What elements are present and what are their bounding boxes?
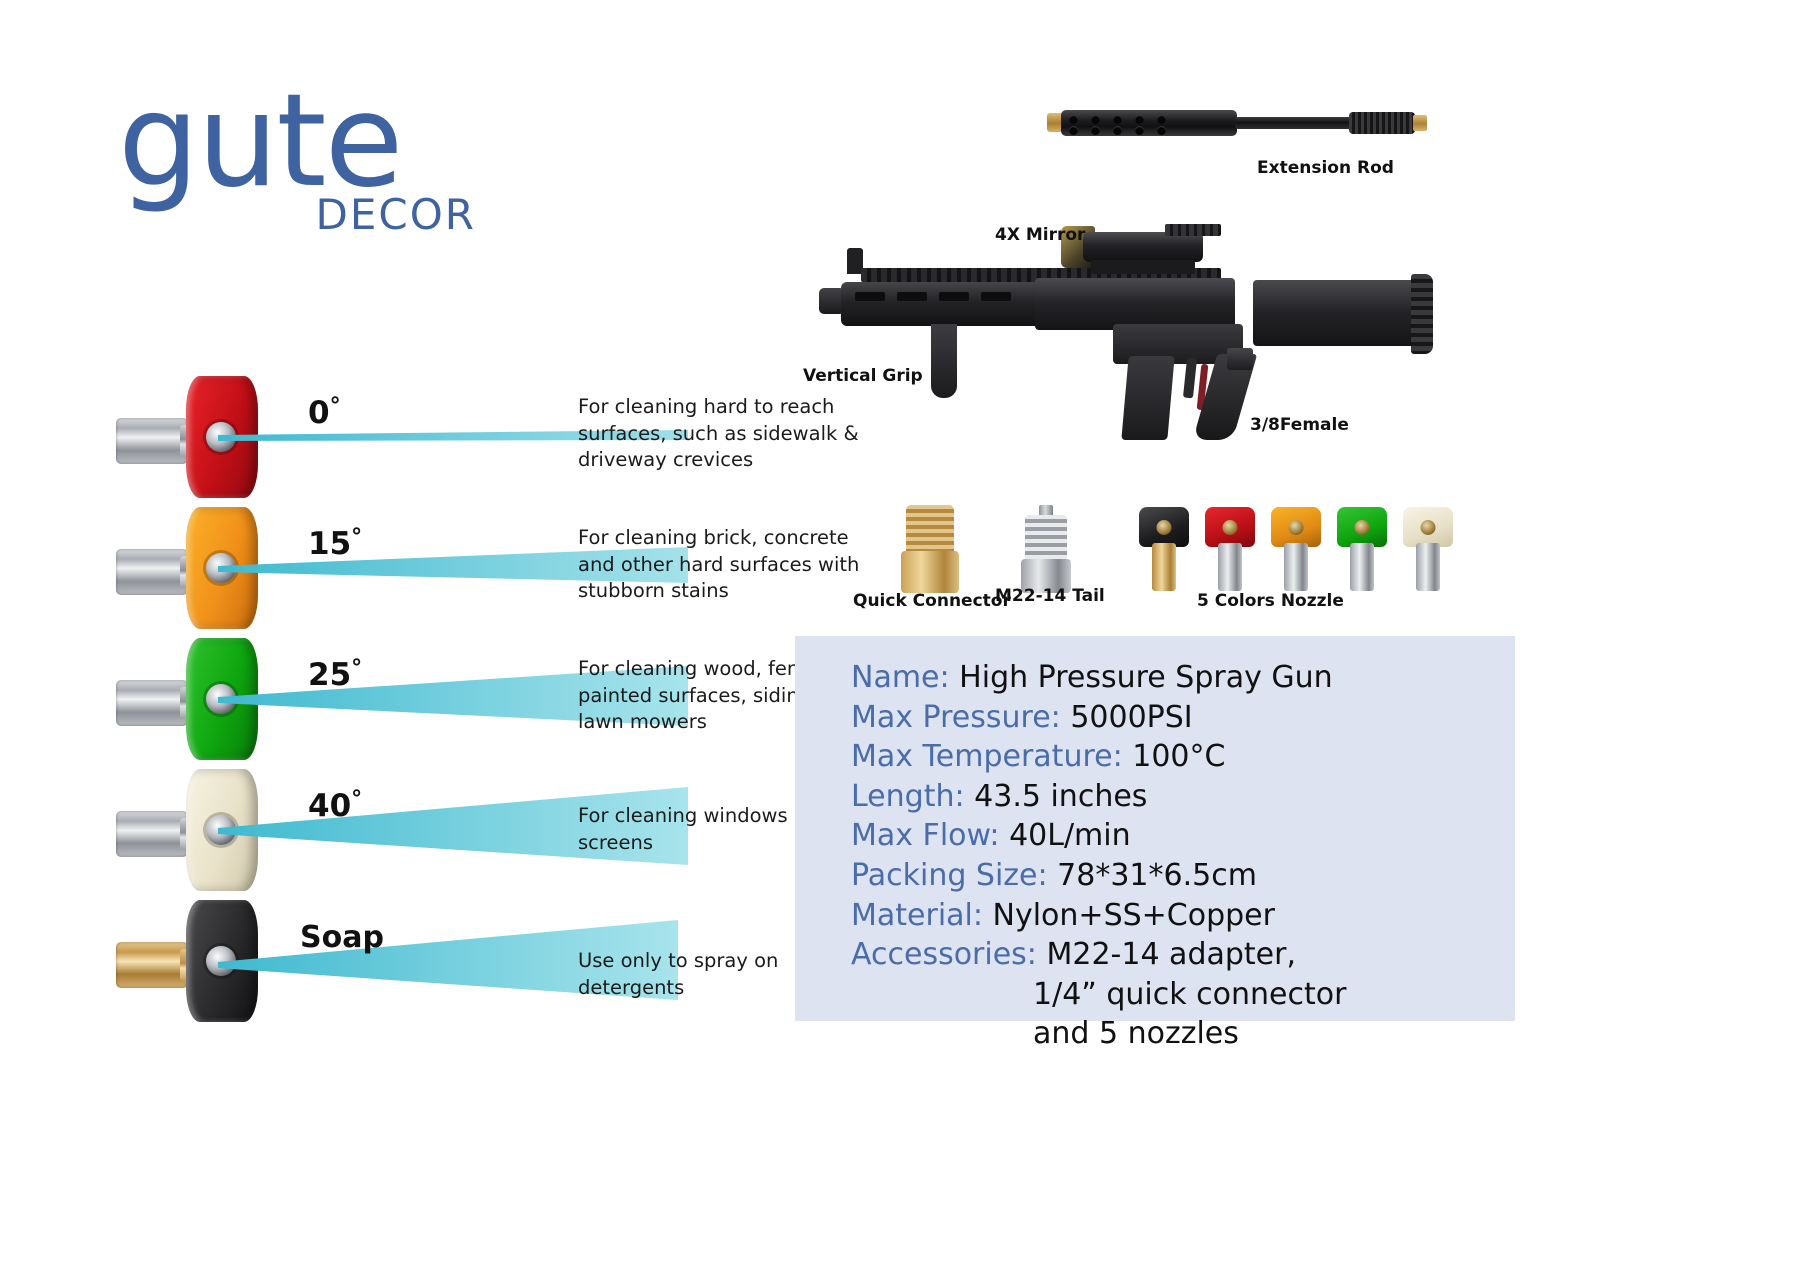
mini-nozzle-stem (1284, 543, 1308, 591)
nozzle-disc-red (186, 376, 258, 498)
label-vertical-grip: Vertical Grip (803, 366, 923, 386)
spec-row-packing-size: Packing Size: 78*31*6.5cm (851, 856, 1505, 896)
nozzle-image-soap (108, 896, 268, 1027)
spec-row-max-temperature: Max Temperature: 100°C (851, 737, 1505, 777)
mini-nozzle-orange (1271, 507, 1321, 593)
label-5-colors-nozzle: 5 Colors Nozzle (1197, 591, 1344, 611)
rod-vent-holes (1069, 115, 1189, 131)
nozzle-row: 25° For cleaning wood, fences, painted s… (100, 634, 790, 765)
nozzle-angle-label: 25° (308, 656, 362, 693)
spec-value: M22-14 adapter, (1046, 937, 1296, 972)
nozzle-image-orange (108, 503, 268, 634)
qc-hex (901, 551, 959, 593)
spec-value: 40L/min (1009, 818, 1131, 853)
nozzle-image-green (108, 634, 268, 765)
quick-connector-icon (116, 811, 188, 857)
nozzle-angle-label: 15° (308, 525, 362, 562)
scope-mount (1091, 260, 1195, 274)
mini-nozzle-stem (1350, 543, 1374, 591)
spec-row-accessories: Accessories: M22-14 adapter, (851, 935, 1505, 975)
label-quick-connector: Quick Connector (853, 591, 1011, 611)
nozzle-row: Soap Use only to spray on detergents (100, 896, 790, 1027)
nozzle-angle-label: Soap (300, 918, 384, 955)
mini-nozzle-stem (1416, 543, 1440, 591)
brass-end (1413, 115, 1427, 131)
nozzle-disc-green (186, 638, 258, 760)
brand-subtitle: DECOR (316, 190, 476, 239)
mini-nozzle-cap (1205, 507, 1255, 547)
spec-accessories-line-3: and 5 nozzles (851, 1014, 1505, 1054)
spec-accessories-line-2: 1/4” quick connector (851, 975, 1505, 1015)
stock (1253, 280, 1425, 346)
nozzle-row: 0° For cleaning hard to reach surfaces, … (100, 372, 790, 503)
brand-logo: gute DECOR (118, 78, 478, 238)
spec-label: Accessories: (851, 937, 1037, 972)
spec-row-name: Name: High Pressure Spray Gun (851, 658, 1505, 698)
mini-nozzle-cap (1271, 507, 1321, 547)
spec-row-max-flow: Max Flow: 40L/min (851, 816, 1505, 856)
spec-row-material: Material: Nylon+SS+Copper (851, 896, 1505, 936)
nozzle-angle-label: 40° (308, 787, 362, 824)
spec-value: 78*31*6.5cm (1057, 858, 1257, 893)
quick-connector-icon (116, 418, 188, 464)
nozzle-disc-black (186, 900, 258, 1022)
upper-receiver (1035, 278, 1235, 330)
nozzle-image-white (108, 765, 268, 896)
mini-nozzle-cap (1403, 507, 1453, 547)
mini-nozzle-stem (1218, 543, 1242, 591)
spec-label: Material: (851, 898, 983, 933)
spec-row-length: Length: 43.5 inches (851, 777, 1505, 817)
scope-tube (1083, 232, 1203, 262)
spec-value: 43.5 inches (974, 779, 1147, 814)
spec-label: Length: (851, 779, 965, 814)
spec-label: Max Pressure: (851, 700, 1061, 735)
quick-connector-icon (116, 680, 188, 726)
spec-value: High Pressure Spray Gun (959, 660, 1333, 695)
nozzle-angle-label: 0° (308, 394, 341, 431)
mini-nozzle-black (1139, 507, 1189, 593)
nozzle-image-red (108, 372, 268, 503)
nozzle-row: 40° For cleaning windows and screens (100, 765, 790, 896)
spec-value: 5000PSI (1070, 700, 1192, 735)
quick-connector-icon (116, 549, 188, 595)
spec-label: Max Temperature: (851, 739, 1123, 774)
specification-panel: Name: High Pressure Spray Gun Max Pressu… (795, 636, 1515, 1021)
magazine (1121, 356, 1174, 440)
mini-nozzle-cap (1337, 507, 1387, 547)
m22-thread (1025, 515, 1067, 565)
butt-pad (1411, 274, 1433, 354)
m22-14-tail-image (1015, 501, 1077, 593)
female-fitting (1227, 348, 1253, 370)
handguard (841, 282, 1041, 326)
spec-value: Nylon+SS+Copper (993, 898, 1275, 933)
label-4x-mirror: 4X Mirror (995, 225, 1085, 245)
brand-wordmark: gute (118, 78, 478, 206)
vertical-grip (931, 324, 957, 398)
mini-nozzle-red (1205, 507, 1255, 593)
mini-nozzle-cap (1139, 507, 1189, 547)
rod-knurl-grip (1349, 112, 1415, 134)
scope-top-rail (1165, 224, 1221, 236)
spec-label: Max Flow: (851, 818, 1000, 853)
product-photo-area: Extension Rod 4X Mirror Vertical Grip 3/… (795, 78, 1515, 623)
accessories-row (875, 473, 1435, 593)
label-female-fitting: 3/8Female (1250, 415, 1349, 435)
quick-connector-brass-icon (116, 942, 188, 988)
spec-label: Packing Size: (851, 858, 1048, 893)
spray-gun-image (813, 196, 1463, 426)
specification-list: Name: High Pressure Spray Gun Max Pressu… (851, 658, 1505, 1054)
spec-value: 100°C (1132, 739, 1225, 774)
nozzle-row: 15° For cleaning brick, concrete and oth… (100, 503, 790, 634)
mini-nozzle-white (1403, 507, 1453, 593)
spec-label: Name: (851, 660, 950, 695)
mini-nozzle-green (1337, 507, 1387, 593)
mini-nozzle-stem (1152, 543, 1176, 591)
label-extension-rod: Extension Rod (1257, 158, 1394, 178)
nozzle-disc-white (186, 769, 258, 891)
extension-rod-image (1043, 102, 1443, 142)
quick-connector-image (893, 493, 967, 593)
nozzle-legend-list: 0° For cleaning hard to reach surfaces, … (100, 372, 790, 1027)
spec-row-max-pressure: Max Pressure: 5000PSI (851, 698, 1505, 738)
qc-thread (906, 505, 954, 557)
label-m22-14-tail: M22-14 Tail (995, 586, 1105, 606)
nozzle-disc-orange (186, 507, 258, 629)
rod-shaft (1235, 117, 1355, 129)
